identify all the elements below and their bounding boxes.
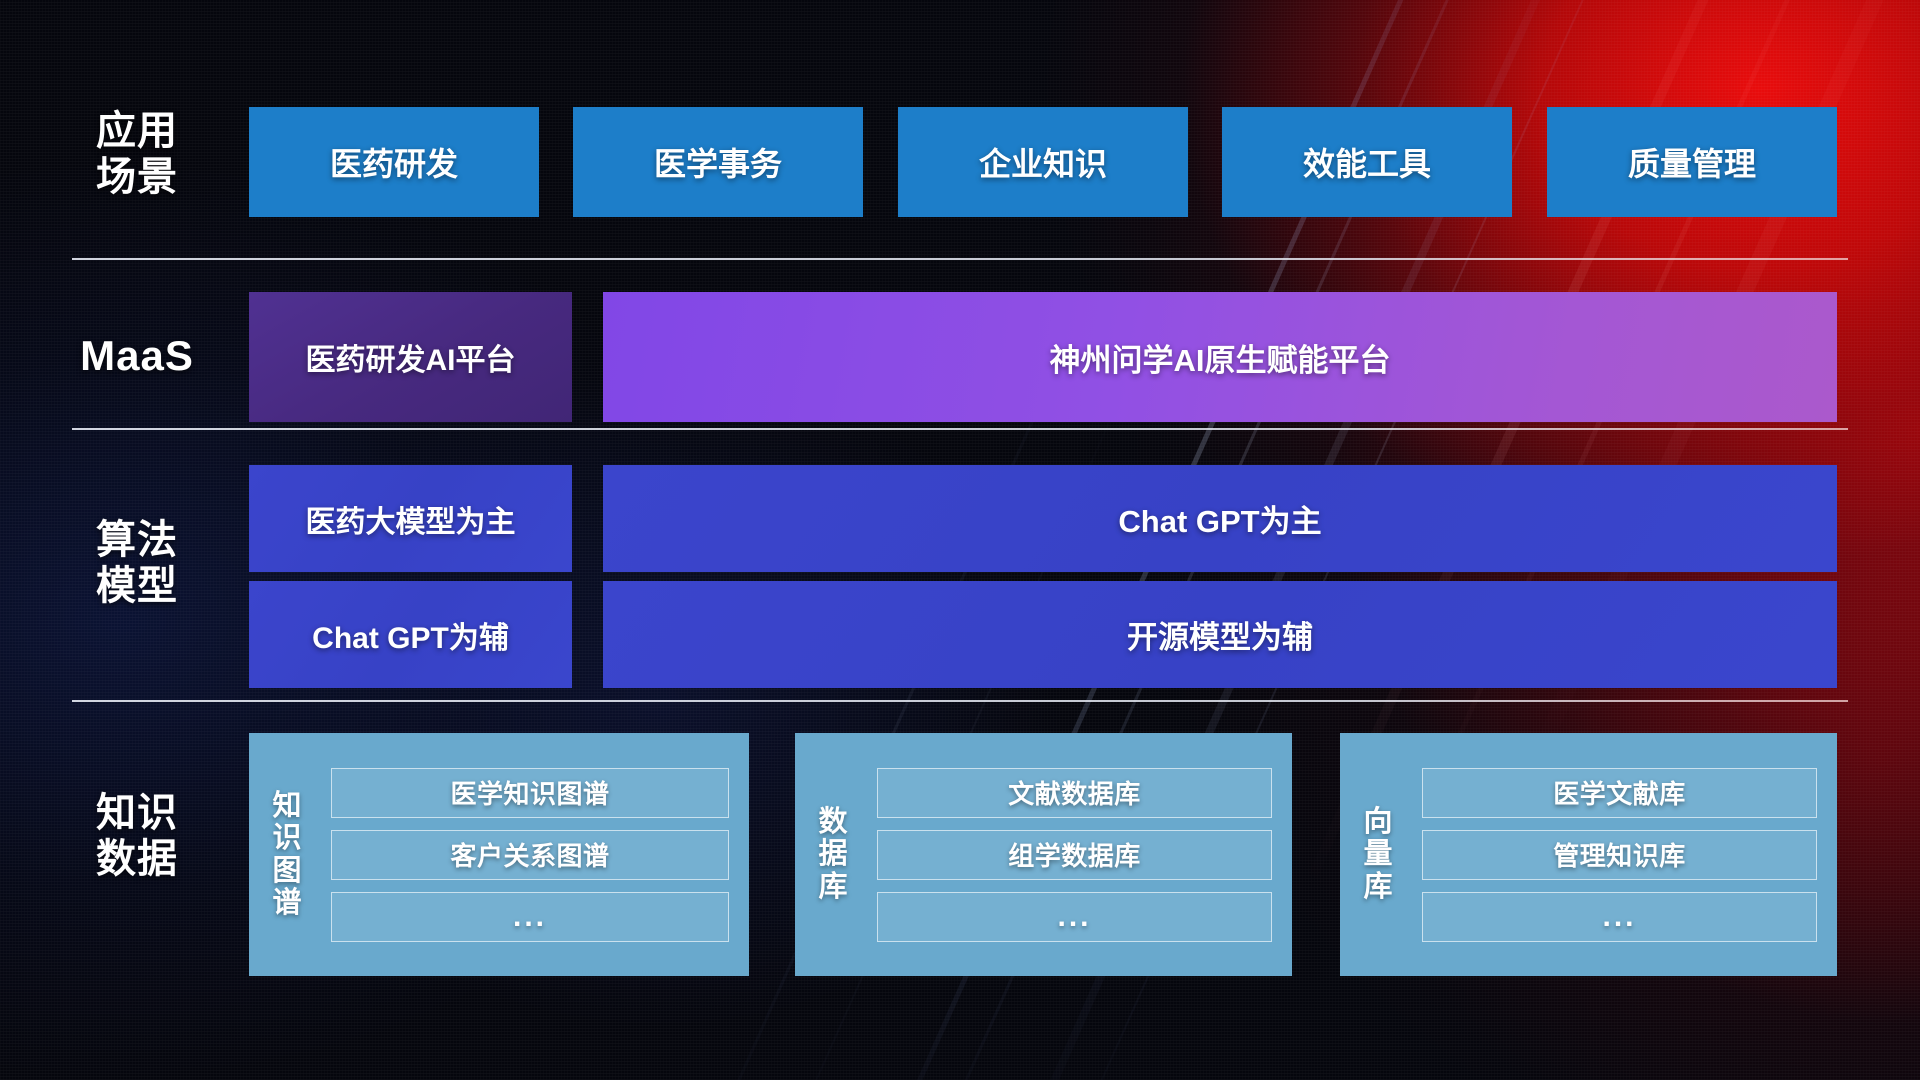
- maas-box-shenzhou-platform[interactable]: 神州问学AI原生赋能平台: [603, 292, 1837, 422]
- knowledge-item-more[interactable]: ...: [877, 892, 1272, 942]
- app-box-label: 医药研发: [330, 139, 458, 185]
- knowledge-item[interactable]: 组学数据库: [877, 830, 1272, 880]
- knowledge-card-title: 数 据 库: [795, 733, 871, 976]
- model-box-label: Chat GPT为辅: [312, 613, 509, 657]
- divider-1: [72, 258, 1848, 260]
- knowledge-item[interactable]: 医学知识图谱: [331, 768, 729, 818]
- app-box-label: 效能工具: [1303, 139, 1431, 185]
- model-box-label: 医药大模型为主: [306, 497, 516, 541]
- divider-2: [72, 428, 1848, 430]
- knowledge-card-vector-store[interactable]: 向 量 库 医学文献库 管理知识库 ...: [1340, 733, 1837, 976]
- knowledge-item[interactable]: 客户关系图谱: [331, 830, 729, 880]
- row-label-application-scenarios: 应用 场景: [72, 108, 202, 201]
- app-box-1[interactable]: 医学事务: [573, 107, 863, 217]
- app-box-2[interactable]: 企业知识: [898, 107, 1188, 217]
- app-box-label: 质量管理: [1628, 139, 1756, 185]
- knowledge-card-database[interactable]: 数 据 库 文献数据库 组学数据库 ...: [795, 733, 1292, 976]
- app-box-label: 企业知识: [979, 139, 1107, 185]
- knowledge-item[interactable]: 管理知识库: [1422, 830, 1817, 880]
- model-box-chatgpt-primary[interactable]: Chat GPT为主: [603, 465, 1837, 572]
- knowledge-item[interactable]: 文献数据库: [877, 768, 1272, 818]
- maas-box-label: 神州问学AI原生赋能平台: [1050, 335, 1391, 380]
- app-box-0[interactable]: 医药研发: [249, 107, 539, 217]
- model-box-opensource-secondary[interactable]: 开源模型为辅: [603, 581, 1837, 688]
- model-box-chatgpt-secondary[interactable]: Chat GPT为辅: [249, 581, 572, 688]
- row-label-maas: MaaS: [72, 332, 202, 381]
- model-box-label: 开源模型为辅: [1127, 612, 1313, 657]
- app-box-label: 医学事务: [654, 139, 782, 185]
- app-box-4[interactable]: 质量管理: [1547, 107, 1837, 217]
- row-label-algorithm-model: 算法 模型: [72, 517, 202, 610]
- app-box-3[interactable]: 效能工具: [1222, 107, 1512, 217]
- model-box-pharma-llm-primary[interactable]: 医药大模型为主: [249, 465, 572, 572]
- row-label-knowledge-data: 知识 数据: [72, 790, 202, 883]
- knowledge-item-more[interactable]: ...: [331, 892, 729, 942]
- model-box-label: Chat GPT为主: [1118, 496, 1321, 541]
- divider-3: [72, 700, 1848, 702]
- architecture-diagram: 应用 场景 医药研发 医学事务 企业知识 效能工具 质量管理 MaaS 医药研发…: [0, 0, 1920, 1080]
- maas-box-label: 医药研发AI平台: [306, 335, 516, 379]
- knowledge-card-title: 知 识 图 谱: [249, 733, 325, 976]
- knowledge-card-knowledge-graph[interactable]: 知 识 图 谱 医学知识图谱 客户关系图谱 ...: [249, 733, 749, 976]
- knowledge-item[interactable]: 医学文献库: [1422, 768, 1817, 818]
- knowledge-card-title: 向 量 库: [1340, 733, 1416, 976]
- knowledge-item-more[interactable]: ...: [1422, 892, 1817, 942]
- maas-box-pharma-platform[interactable]: 医药研发AI平台: [249, 292, 572, 422]
